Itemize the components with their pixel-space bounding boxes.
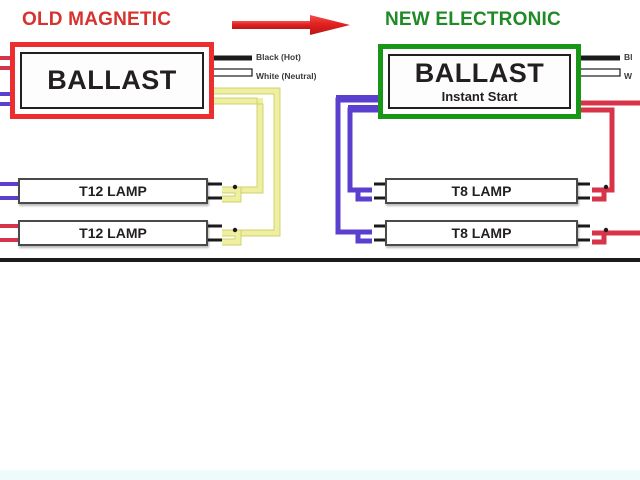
old-lamp-label-1: T12 LAMP <box>79 183 147 199</box>
new-junction-dots <box>604 185 608 232</box>
section-divider <box>0 258 640 262</box>
old-wire-label-black: Black (Hot) <box>256 52 301 62</box>
old-lamp-wires-yellow-outline <box>210 88 280 236</box>
new-lamp-label-1: T8 LAMP <box>452 183 512 199</box>
old-ballast-box: BALLAST <box>10 42 214 119</box>
old-supply-wires <box>212 58 252 76</box>
new-ballast-box: BALLAST Instant Start <box>378 44 581 119</box>
bottom-tint-band <box>0 470 640 480</box>
old-ballast-inner: BALLAST <box>20 52 204 109</box>
new-wire-label-white: W <box>624 71 632 81</box>
heading-new-electronic: NEW ELECTRONIC <box>385 9 561 31</box>
old-wire-label-white: White (Neutral) <box>256 71 316 81</box>
new-lamp-jumpers-blue <box>358 190 372 241</box>
new-lamp-wires-blue <box>338 100 380 232</box>
wiring-diagram-area: OLD MAGNETIC NEW ELECTRONIC BALLAST B <box>0 0 640 258</box>
old-lamp-jumpers-yellow <box>222 190 238 242</box>
old-junction-dots <box>233 185 237 232</box>
diagram-canvas: OLD MAGNETIC NEW ELECTRONIC BALLAST B <box>0 0 640 480</box>
new-lamp-tube-2: T8 LAMP <box>385 220 578 246</box>
new-wire-label-black: Bl <box>624 52 633 62</box>
new-ballast-label: BALLAST <box>415 60 544 87</box>
old-lamp-wires-yellow <box>210 91 277 233</box>
new-ballast-inner: BALLAST Instant Start <box>388 54 571 109</box>
heading-old-magnetic: OLD MAGNETIC <box>22 9 171 31</box>
old-ballast-label: BALLAST <box>47 67 176 94</box>
lower-blank-panel <box>0 262 640 470</box>
new-lamp-label-2: T8 LAMP <box>452 225 512 241</box>
old-lamp-label-2: T12 LAMP <box>79 225 147 241</box>
old-lamp-jumpers-outline <box>222 187 241 245</box>
new-lamp-tube-1: T8 LAMP <box>385 178 578 204</box>
right-arrow-icon <box>230 14 352 36</box>
old-lamp-tube-1: T12 LAMP <box>18 178 208 204</box>
new-lamp-jumpers-red <box>592 190 604 242</box>
new-ballast-left-stubs <box>336 97 382 107</box>
new-ballast-sublabel: Instant Start <box>442 90 518 103</box>
new-lamp-wires-red <box>579 103 640 233</box>
old-lamp-tube-2: T12 LAMP <box>18 220 208 246</box>
new-supply-wires <box>579 58 620 76</box>
